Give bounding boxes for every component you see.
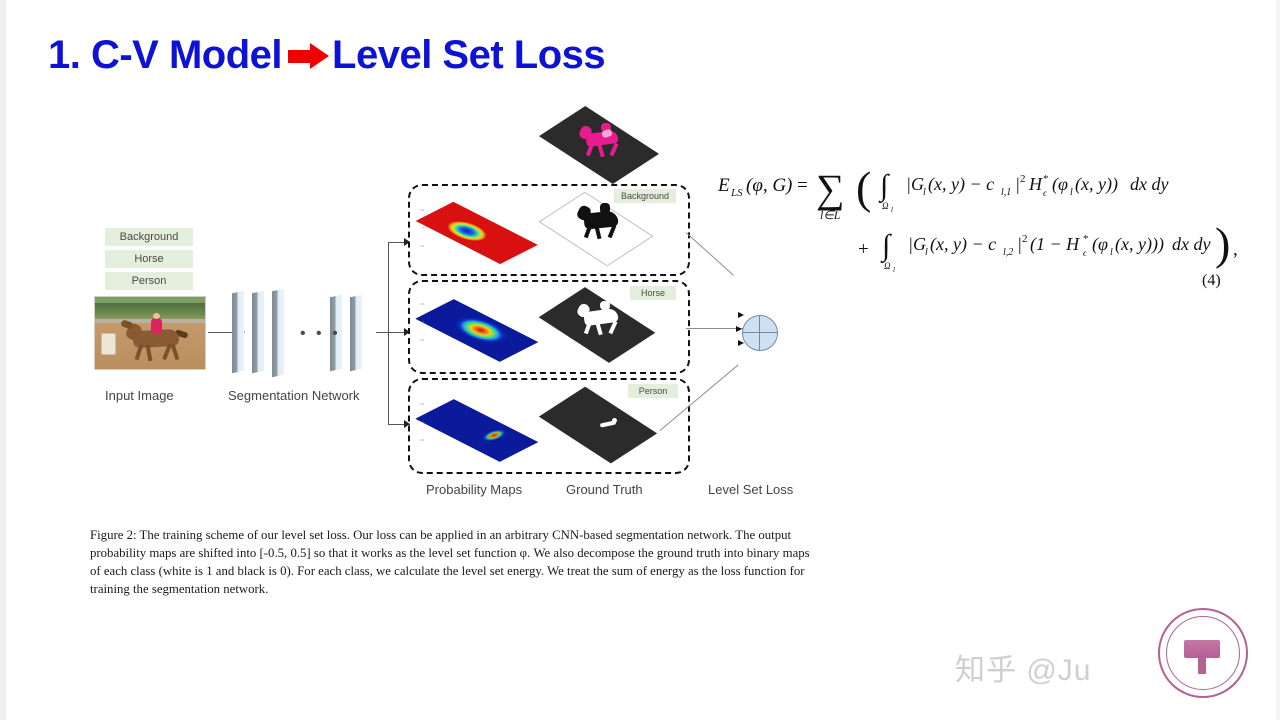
svg-text:(x, y) − c: (x, y) − c <box>930 234 996 255</box>
zhihu-watermark: 知乎 @Ju <box>955 645 1091 689</box>
svg-text:): ) <box>1215 218 1230 269</box>
svg-text:+: + <box>858 239 869 260</box>
row-tag-person: Person <box>628 384 678 398</box>
network-output-line <box>376 332 404 333</box>
svg-text:|G: |G <box>908 234 926 254</box>
svg-text:(x, y) − c: (x, y) − c <box>928 174 994 195</box>
row-tag-background: Background <box>614 189 676 203</box>
class-badge-horse: Horse <box>105 250 193 268</box>
figure-caption: Figure 2: The training scheme of our lev… <box>90 526 820 599</box>
svg-text:ϵ: ϵ <box>1043 188 1047 198</box>
title-part-2: Level Set Loss <box>332 33 605 78</box>
slide-title: 1. C-V Model Level Set Loss <box>48 33 605 78</box>
title-part-1: 1. C-V Model <box>48 33 282 78</box>
svg-text:l: l <box>1070 187 1073 198</box>
level-set-energy-equation: E LS (φ, G) = ∑ l∈L ( ∫ Ω l |G l (x, y) … <box>710 155 1255 290</box>
svg-text:=: = <box>797 175 808 196</box>
svg-text:(φ: (φ <box>1052 174 1068 195</box>
input-image-photo <box>94 296 206 370</box>
svg-text:l: l <box>893 266 895 274</box>
svg-text:,: , <box>1233 239 1238 260</box>
svg-text:l: l <box>923 187 926 198</box>
svg-text:Ω: Ω <box>882 201 889 211</box>
svg-text:dx dy: dx dy <box>1130 174 1168 194</box>
right-arrow-icon <box>288 41 330 71</box>
svg-text:∫: ∫ <box>878 169 890 204</box>
equation-number: (4) <box>1202 272 1221 290</box>
svg-text:(φ, G): (φ, G) <box>746 175 792 196</box>
input-image-label: Input Image <box>105 388 174 403</box>
class-legend: Background Horse Person <box>105 228 193 294</box>
row-tag-horse: Horse <box>630 286 676 300</box>
level-set-loss-label: Level Set Loss <box>708 482 793 497</box>
class-badge-person: Person <box>105 272 193 290</box>
svg-text:l: l <box>1110 247 1113 258</box>
class-badge-background: Background <box>105 228 193 246</box>
nanjing-university-of-science-and-technology-logo <box>1158 608 1248 698</box>
slide-right-edge <box>1276 0 1280 720</box>
svg-text:(x, y))): (x, y))) <box>1115 234 1164 255</box>
probability-map-horse: 0.5 0 -0.5 <box>418 288 536 366</box>
svg-text:ϵ: ϵ <box>1083 248 1087 258</box>
svg-text:(1 − H: (1 − H <box>1030 234 1080 255</box>
network-ellipsis: • • • <box>300 325 341 343</box>
segmentation-network-label: Segmentation Network <box>228 388 360 403</box>
svg-text:LS: LS <box>730 187 743 199</box>
probability-map-background: 0.5 0 -0.5 <box>418 192 536 268</box>
svg-text:*: * <box>1083 233 1089 245</box>
svg-text:l,2: l,2 <box>1003 247 1013 258</box>
svg-text:(: ( <box>856 162 871 213</box>
svg-text:(x, y)): (x, y)) <box>1075 174 1118 195</box>
sum-arrowhead-top <box>738 312 744 318</box>
network-branch-vertical <box>388 242 389 424</box>
probability-maps-label: Probability Maps <box>426 482 522 497</box>
svg-text:*: * <box>1043 173 1049 185</box>
svg-text:|G: |G <box>906 174 924 194</box>
ground-truth-label: Ground Truth <box>566 482 643 497</box>
circle-plus-sum-icon <box>742 315 778 351</box>
probability-map-person: 0.5 0 -0.5 <box>418 388 536 466</box>
svg-text:∑: ∑ <box>816 166 845 211</box>
slide-canvas: 1. C-V Model Level Set Loss Background H… <box>0 0 1280 720</box>
svg-text:2: 2 <box>1020 173 1026 185</box>
svg-text:l: l <box>925 247 928 258</box>
svg-text:Ω: Ω <box>884 261 891 271</box>
svg-text:2: 2 <box>1022 233 1028 245</box>
svg-text:l,1: l,1 <box>1001 187 1011 198</box>
svg-text:dx dy: dx dy <box>1172 234 1210 254</box>
svg-text:l: l <box>891 206 893 214</box>
svg-text:H: H <box>1028 174 1043 194</box>
svg-text:l∈L: l∈L <box>820 208 841 222</box>
svg-text:(φ: (φ <box>1092 234 1108 255</box>
equation-svg: E LS (φ, G) = ∑ l∈L ( ∫ Ω l |G l (x, y) … <box>710 155 1255 285</box>
svg-text:∫: ∫ <box>880 229 892 264</box>
svg-text:E: E <box>717 175 730 196</box>
